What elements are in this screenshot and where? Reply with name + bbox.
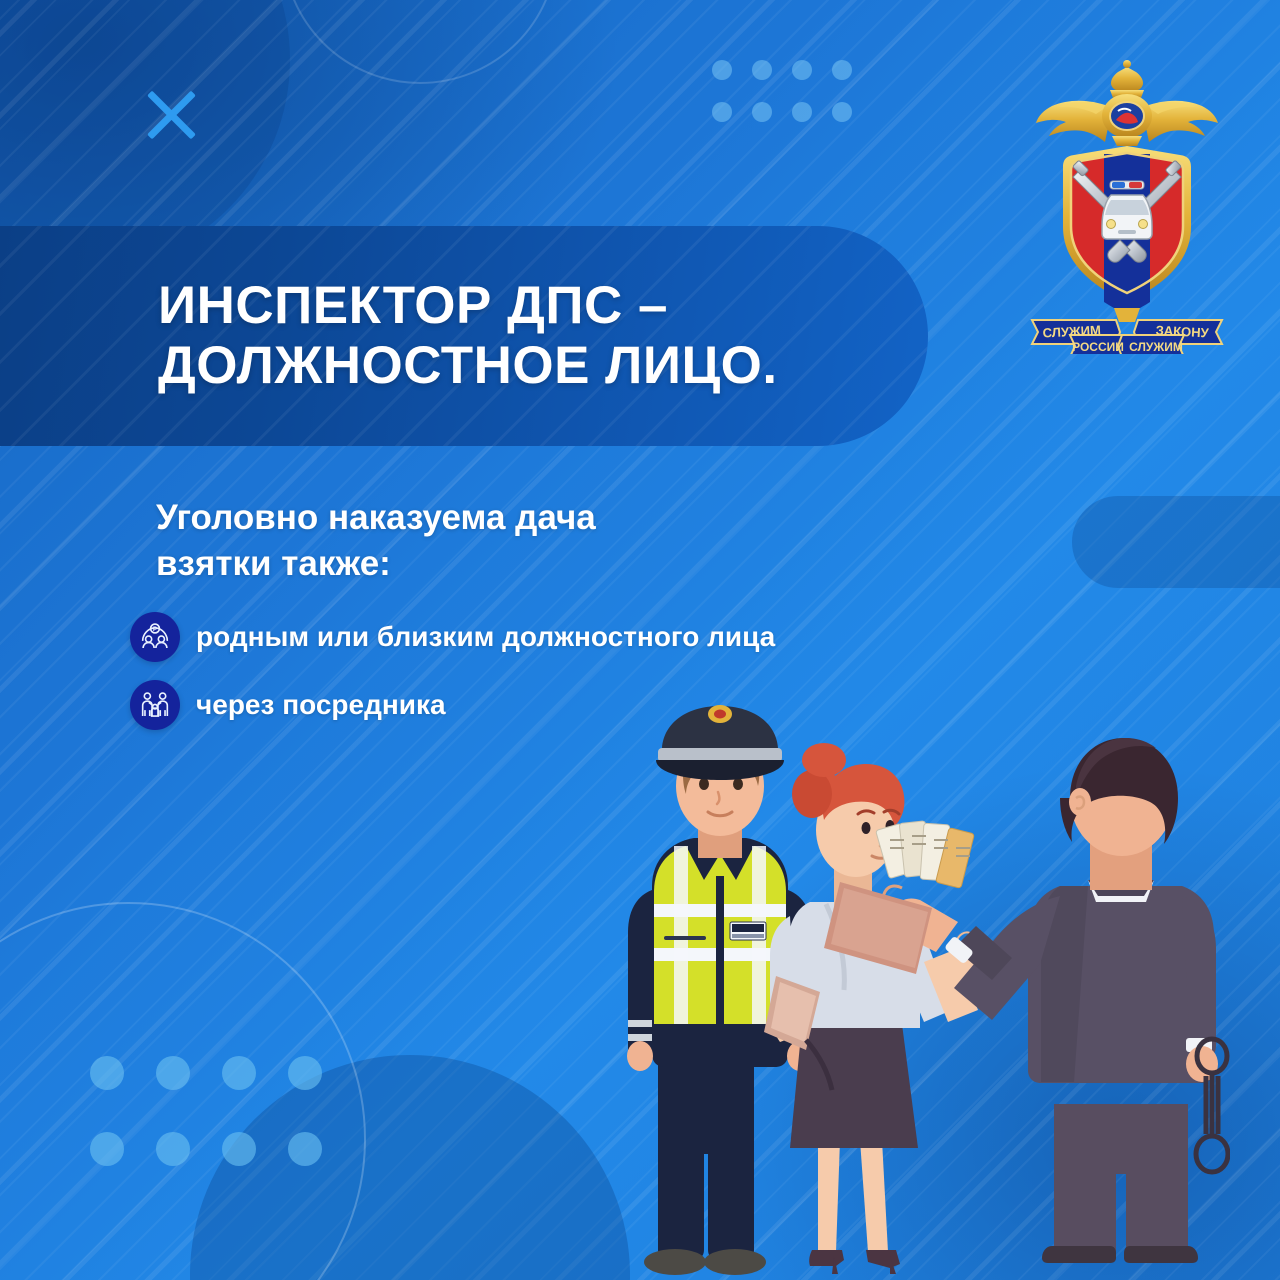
emblem-crown bbox=[1110, 60, 1144, 98]
bribery-scene-illustration bbox=[590, 690, 1230, 1280]
family-group-icon bbox=[130, 680, 180, 730]
list-item-label: через посредника bbox=[196, 689, 446, 721]
list-item-label: родным или близким должностного лица bbox=[196, 621, 775, 653]
dot-grid-bottom bbox=[90, 1056, 270, 1166]
emblem-ribbon-text-right: ЗАКОНУ bbox=[1155, 323, 1210, 341]
officer-badge-patch bbox=[730, 922, 766, 940]
title-banner: ИНСПЕКТОР ДПС – ДОЛЖНОСТНОЕ ЛИЦО. bbox=[0, 226, 928, 446]
woman-refusing bbox=[764, 743, 993, 1274]
emblem-center-medallion bbox=[1102, 94, 1152, 146]
mvd-gibdd-emblem: СЛУЖИМ ЗАКОНУ РОССИИ СЛУЖИМ bbox=[1022, 54, 1232, 354]
decor-circle-outline-top bbox=[282, 0, 558, 84]
officer-peaked-cap bbox=[656, 705, 784, 780]
emblem-ribbon-text-center-right: СЛУЖИМ bbox=[1129, 340, 1183, 354]
subtitle-heading: Уголовно наказуема дача взятки также: bbox=[156, 495, 796, 587]
decor-circle-outline-bottom-left bbox=[0, 902, 366, 1280]
emblem-ribbon: СЛУЖИМ ЗАКОНУ РОССИИ СЛУЖИМ bbox=[1032, 308, 1222, 354]
poster-canvas: ИНСПЕКТОР ДПС – ДОЛЖНОСТНОЕ ЛИЦО. Уголов… bbox=[0, 0, 1280, 1280]
people-badge-icon: P bbox=[130, 612, 180, 662]
banknotes bbox=[876, 821, 975, 889]
page-title: ИНСПЕКТОР ДПС – ДОЛЖНОСТНОЕ ЛИЦО. bbox=[158, 276, 778, 397]
x-mark-icon bbox=[140, 84, 202, 146]
decor-circle-fill-bottom-left bbox=[190, 1055, 630, 1280]
decor-pill-right bbox=[1072, 496, 1280, 588]
list-item: P родным или близким должностного лица bbox=[130, 612, 970, 662]
emblem-ribbon-text-center-left: РОССИИ bbox=[1072, 340, 1124, 354]
dot-grid-top bbox=[712, 60, 838, 122]
emblem-ribbon-text-left: СЛУЖИМ bbox=[1042, 322, 1101, 340]
